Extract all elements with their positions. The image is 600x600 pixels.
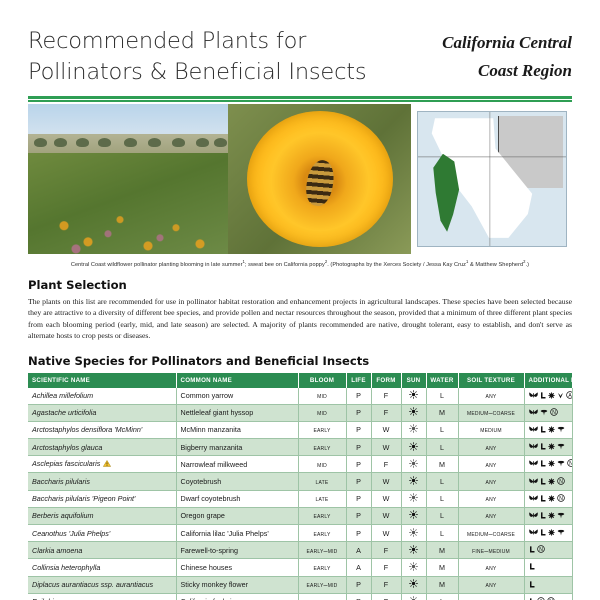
butterfly-icon: [529, 409, 538, 418]
table-row: Agastache urticifoliaNettleleaf giant hy…: [28, 404, 572, 421]
cell-form: F: [371, 559, 401, 576]
cell-sun: [401, 490, 426, 507]
cell-sun: [401, 542, 426, 559]
table-row: Berberis aquifoliumOregon grapeEarlyPWLA…: [28, 507, 572, 524]
cell-water: M: [426, 542, 458, 559]
cell-soil-texture: Medium: [458, 421, 524, 438]
svg-text:N: N: [569, 461, 572, 467]
bee-icon: [540, 426, 546, 435]
circle-n-icon: N: [537, 545, 545, 555]
col-bloom: BLOOM: [298, 373, 346, 388]
cell-life: A: [346, 559, 371, 576]
col-soil-texture: SOIL TEXTURE: [458, 373, 524, 388]
cell-soil-texture: Any: [458, 490, 524, 507]
cell-additional-details: N: [524, 473, 572, 490]
cell-form: W: [371, 439, 401, 456]
part-sun-icon: [409, 562, 418, 573]
cell-soil-texture: Fine–Medium: [458, 542, 524, 559]
cell-soil-texture: Any: [458, 456, 524, 473]
cell-water: L: [426, 507, 458, 524]
poppy-with-bee-photo: [228, 104, 411, 254]
circle-n-icon: N: [567, 459, 573, 469]
bee-icon: [540, 443, 546, 452]
bird-icon: [557, 426, 565, 435]
cell-water: L: [426, 473, 458, 490]
cell-bloom: Early: [298, 559, 346, 576]
svg-text:N: N: [539, 547, 543, 553]
butterfly-icon: [529, 460, 538, 469]
caption-part-3: . (Photographs by the Xerces Society / J…: [327, 262, 466, 268]
cell-sun: [401, 576, 426, 593]
table-row: Baccharis pilularis 'Pigeon Point'Dwarf …: [28, 490, 572, 507]
cell-sun: [401, 456, 426, 473]
table-body: Achillea millefoliumCommon yarrowMidPFLA…: [28, 388, 572, 600]
photo-caption: Central Coast wildflower pollinator plan…: [28, 254, 572, 269]
bee-icon: [540, 392, 546, 401]
col-water: WATER: [426, 373, 458, 388]
cell-bloom: Early: [298, 439, 346, 456]
cell-form: F: [371, 388, 401, 405]
bird-icon: [557, 460, 565, 469]
cell-water: L: [426, 490, 458, 507]
cell-additional-details: [524, 525, 572, 542]
cell-life: P: [346, 473, 371, 490]
cell-soil-texture: Any: [458, 473, 524, 490]
cell-scientific-name: Collinsia heterophylla: [28, 559, 176, 576]
cell-life: P: [346, 507, 371, 524]
photo-strip: [28, 104, 572, 254]
cell-life: P: [346, 421, 371, 438]
col-form: FORM: [371, 373, 401, 388]
cell-common-name: McMinn manzanita: [176, 421, 298, 438]
beetle-icon: [548, 529, 555, 538]
cell-additional-details: N: [524, 490, 572, 507]
beetle-icon: [548, 512, 555, 521]
cell-common-name: California fuchsia: [176, 593, 298, 600]
part-sun-icon: [409, 493, 418, 504]
cell-bloom: Mid: [298, 404, 346, 421]
cell-common-name: Dwarf coyotebrush: [176, 490, 298, 507]
cell-soil-texture: Any: [458, 576, 524, 593]
cell-bloom: Mid–Late: [298, 593, 346, 600]
divider-thin: [28, 100, 572, 102]
cell-bloom: Mid: [298, 388, 346, 405]
map-frame: [417, 111, 567, 247]
cell-additional-details: [524, 421, 572, 438]
cell-life: P: [346, 576, 371, 593]
cell-bloom: Late: [298, 473, 346, 490]
cell-scientific-name: Achillea millefolium: [28, 388, 176, 405]
cell-sun: [401, 421, 426, 438]
cell-scientific-name: Agastache urticifolia: [28, 404, 176, 421]
table-row: Ceanothus 'Julia Phelps'California lilac…: [28, 525, 572, 542]
wildflower-meadow-photo: [28, 104, 228, 254]
cell-scientific-name: Ceanothus 'Julia Phelps': [28, 525, 176, 542]
cell-form: W: [371, 490, 401, 507]
cell-soil-texture: Medium–Coarse: [458, 404, 524, 421]
cell-life: P: [346, 525, 371, 542]
cell-water: L: [426, 439, 458, 456]
cell-form: F: [371, 593, 401, 600]
cell-water: M: [426, 559, 458, 576]
table-row: Arctostaphylos densiflora 'McMinn'McMinn…: [28, 421, 572, 438]
cell-additional-details: [524, 576, 572, 593]
col-life: LIFE: [346, 373, 371, 388]
cell-life: P: [346, 593, 371, 600]
cell-soil-texture: Any: [458, 439, 524, 456]
table-row: Achillea millefoliumCommon yarrowMidPFLA…: [28, 388, 572, 405]
header-divider: [28, 96, 572, 102]
bee-icon: [529, 563, 535, 572]
cell-soil-texture: Any: [458, 593, 524, 600]
cell-scientific-name: Berberis aquifolium: [28, 507, 176, 524]
cell-common-name: California lilac 'Julia Phelps': [176, 525, 298, 542]
cell-sun: [401, 559, 426, 576]
table-header-row: SCIENTIFIC NAME COMMON NAME BLOOM LIFE F…: [28, 373, 572, 388]
bird-icon: [557, 512, 565, 521]
cell-form: F: [371, 576, 401, 593]
svg-text:N: N: [552, 410, 556, 416]
title-line-1: Recommended Plants for: [28, 26, 366, 57]
cell-form: F: [371, 542, 401, 559]
cell-soil-texture: Any: [458, 388, 524, 405]
cell-bloom: Early: [298, 421, 346, 438]
cell-water: L: [426, 421, 458, 438]
cell-sun: [401, 507, 426, 524]
cell-form: F: [371, 404, 401, 421]
table-row: Baccharis pilularisCoyotebrushLatePWLAny…: [28, 473, 572, 490]
beetle-icon: [548, 392, 555, 401]
plant-selection-paragraph: The plants on this list are recommended …: [28, 296, 572, 342]
cell-sun: [401, 593, 426, 600]
circle-n-icon: N: [557, 477, 565, 487]
cell-form: W: [371, 507, 401, 524]
table-row: Asclepias fascicularisNarrowleaf milkwee…: [28, 456, 572, 473]
butterfly-icon: [529, 512, 538, 521]
table-row: Clarkia amoenaFarewell-to-springEarly–Mi…: [28, 542, 572, 559]
region-line-2: Coast Region: [442, 57, 572, 85]
cell-additional-details: [524, 507, 572, 524]
cell-bloom: Mid: [298, 456, 346, 473]
bee-icon: [540, 529, 546, 538]
bird-icon: [557, 443, 565, 452]
cell-common-name: Narrowleaf milkweed: [176, 456, 298, 473]
col-common-name: COMMON NAME: [176, 373, 298, 388]
full-sun-icon: [409, 545, 418, 556]
plant-table: SCIENTIFIC NAME COMMON NAME BLOOM LIFE F…: [28, 373, 573, 600]
cell-sun: [401, 404, 426, 421]
cell-soil-texture: Medium–Coarse: [458, 525, 524, 542]
col-sun: SUN: [401, 373, 426, 388]
beetle-icon: [548, 495, 555, 504]
cell-common-name: Sticky monkey flower: [176, 576, 298, 593]
cell-water: L: [426, 388, 458, 405]
plant-selection-heading: Plant Selection: [28, 278, 572, 292]
wildflower-field-layer: [28, 153, 228, 254]
cell-water: M: [426, 576, 458, 593]
cell-additional-details: AN: [524, 388, 572, 405]
cell-scientific-name: Arctostaphylos glauca: [28, 439, 176, 456]
bee-icon: [529, 546, 535, 555]
table-row: Epilobium canumCalifornia fuchsiaMid–Lat…: [28, 593, 572, 600]
tree-line: [28, 132, 228, 147]
cell-sun: [401, 473, 426, 490]
cell-soil-texture: Any: [458, 559, 524, 576]
cell-additional-details: [524, 439, 572, 456]
beetle-icon: [548, 426, 555, 435]
part-sun-icon: [409, 596, 418, 600]
cell-scientific-name: Baccharis pilularis: [28, 473, 176, 490]
cell-scientific-name: Asclepias fascicularis: [28, 456, 176, 473]
caption-part-5: .): [526, 262, 530, 268]
title-line-2: Pollinators & Beneficial Insects: [28, 57, 366, 88]
caption-part-4: & Matthew Shepherd: [468, 262, 523, 268]
caption-part-2: ; sweat bee on California poppy: [245, 262, 325, 268]
cell-bloom: Early: [298, 507, 346, 524]
full-sun-icon: [409, 476, 418, 487]
cell-scientific-name: Diplacus aurantiacus ssp. aurantiacus: [28, 576, 176, 593]
page-title: Recommended Plants for Pollinators & Ben…: [28, 26, 366, 87]
cell-additional-details: N: [524, 542, 572, 559]
cell-common-name: Nettleleaf giant hyssop: [176, 404, 298, 421]
cell-form: W: [371, 421, 401, 438]
cell-life: P: [346, 456, 371, 473]
cell-additional-details: N: [524, 456, 572, 473]
table-row: Collinsia heterophyllaChinese housesEarl…: [28, 559, 572, 576]
cell-scientific-name: Epilobium canum: [28, 593, 176, 600]
col-scientific-name: SCIENTIFIC NAME: [28, 373, 176, 388]
bird-icon: [540, 409, 548, 418]
beetle-icon: [548, 460, 555, 469]
caption-part-1: Central Coast wildflower pollinator plan…: [71, 262, 243, 268]
full-sun-icon: [409, 390, 418, 401]
part-sun-icon: [409, 424, 418, 435]
fly-icon: [557, 392, 564, 401]
bee-icon: [529, 581, 535, 590]
cell-life: P: [346, 404, 371, 421]
beetle-icon: [548, 443, 555, 452]
butterfly-icon: [529, 426, 538, 435]
region-line-1: California Central: [442, 29, 572, 57]
butterfly-icon: [529, 495, 538, 504]
cell-life: P: [346, 439, 371, 456]
beetle-icon: [548, 478, 555, 487]
cell-form: W: [371, 525, 401, 542]
document-page: Recommended Plants for Pollinators & Ben…: [0, 0, 600, 600]
cell-life: P: [346, 490, 371, 507]
bee-icon: [540, 478, 546, 487]
cell-additional-details: AN: [524, 593, 572, 600]
document-header: Recommended Plants for Pollinators & Ben…: [28, 0, 572, 87]
cell-additional-details: [524, 559, 572, 576]
full-sun-icon: [409, 579, 418, 590]
cell-life: A: [346, 542, 371, 559]
bee-icon: [540, 495, 546, 504]
california-region-map: [411, 104, 572, 254]
cell-common-name: Oregon grape: [176, 507, 298, 524]
cell-bloom: Late: [298, 490, 346, 507]
cell-soil-texture: Any: [458, 507, 524, 524]
cell-water: L: [426, 525, 458, 542]
cell-common-name: Chinese houses: [176, 559, 298, 576]
part-sun-icon: [409, 528, 418, 539]
cell-additional-details: N: [524, 404, 572, 421]
circle-a-icon: A: [566, 391, 573, 401]
full-sun-icon: [409, 442, 418, 453]
butterfly-icon: [529, 392, 538, 401]
cell-common-name: Bigberry manzanita: [176, 439, 298, 456]
svg-text:N: N: [559, 496, 563, 502]
col-additional-details: ADDITIONAL DETAILS: [524, 373, 572, 388]
cell-life: P: [346, 388, 371, 405]
cell-water: M: [426, 456, 458, 473]
cell-bloom: Early–Mid: [298, 542, 346, 559]
cell-scientific-name: Baccharis pilularis 'Pigeon Point': [28, 490, 176, 507]
svg-text:N: N: [559, 478, 563, 484]
bee-icon: [540, 460, 546, 469]
cell-sun: [401, 439, 426, 456]
cell-scientific-name: Arctostaphylos densiflora 'McMinn': [28, 421, 176, 438]
cell-common-name: Coyotebrush: [176, 473, 298, 490]
circle-n-icon: N: [550, 408, 558, 418]
cell-common-name: Common yarrow: [176, 388, 298, 405]
table-row: Arctostaphylos glaucaBigberry manzanitaE…: [28, 439, 572, 456]
cell-scientific-name: Clarkia amoena: [28, 542, 176, 559]
butterfly-icon: [529, 478, 538, 487]
butterfly-icon: [529, 443, 538, 452]
full-sun-icon: [409, 407, 418, 418]
cell-water: M: [426, 404, 458, 421]
cell-sun: [401, 525, 426, 542]
bird-icon: [557, 529, 565, 538]
cell-form: W: [371, 473, 401, 490]
table-row: Diplacus aurantiacus ssp. aurantiacusSti…: [28, 576, 572, 593]
cell-bloom: Early–Mid: [298, 576, 346, 593]
native-species-heading: Native Species for Pollinators and Benef…: [28, 354, 572, 368]
cell-sun: [401, 388, 426, 405]
bee-icon: [540, 512, 546, 521]
cell-bloom: Early: [298, 525, 346, 542]
butterfly-icon: [529, 529, 538, 538]
cell-water: L: [426, 593, 458, 600]
region-subtitle: California Central Coast Region: [442, 26, 572, 84]
full-sun-icon: [409, 510, 418, 521]
warning-triangle-icon: [103, 460, 111, 469]
circle-n-icon: N: [557, 494, 565, 504]
cell-form: F: [371, 456, 401, 473]
part-sun-icon: [409, 459, 418, 470]
cell-common-name: Farewell-to-spring: [176, 542, 298, 559]
